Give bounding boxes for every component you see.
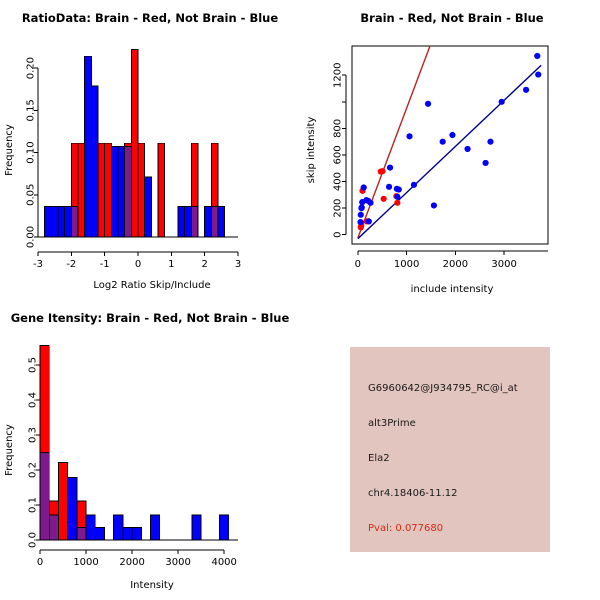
scatter-point-not-brain xyxy=(523,87,529,93)
histogram-bar-overlap xyxy=(71,207,78,237)
scatter-point-not-brain xyxy=(464,146,470,152)
histogram-bar-brain xyxy=(58,462,67,540)
x-axis-tick-label: 2000 xyxy=(119,557,144,568)
gene-intensity-histogram-panel: Gene Itensity: Brain - Red, Not Brain - … xyxy=(0,300,300,600)
histogram-bar-overlap xyxy=(191,207,198,237)
histogram-bar-not-brain xyxy=(218,207,225,237)
ratio-histogram-svg: RatioData: Brain - Red, Not Brain - Blue… xyxy=(0,0,300,300)
scatter-point-not-brain xyxy=(440,139,446,145)
scatter-point-not-brain xyxy=(367,200,373,206)
histogram-bar-brain xyxy=(138,143,145,237)
scatter-point-not-brain xyxy=(482,160,488,166)
histogram-bar-overlap xyxy=(211,207,218,237)
gene-intensity-histogram-xlabel: Intensity xyxy=(130,580,174,591)
y-axis-tick-label: 0 xyxy=(333,232,344,238)
scatter-point-not-brain xyxy=(406,133,412,139)
locus-text: chr4.18406-11.12 xyxy=(368,488,542,499)
x-axis-tick-label: 3000 xyxy=(165,557,190,568)
histogram-bar-brain xyxy=(131,50,138,237)
scatter-point-not-brain xyxy=(387,164,393,170)
y-axis-tick-label: 400 xyxy=(333,172,344,191)
intensity-scatter-panel: Brain - Red, Not Brain - Blue 0200400600… xyxy=(300,0,600,300)
histogram-bar-not-brain xyxy=(58,207,65,237)
y-axis-tick-label: 0.15 xyxy=(26,99,37,121)
gene-intensity-histogram-svg: Gene Itensity: Brain - Red, Not Brain - … xyxy=(0,300,300,600)
histogram-bar-not-brain xyxy=(85,56,92,237)
intensity-scatter-xlabel: include intensity xyxy=(411,284,494,295)
y-axis-tick-label: 0.3 xyxy=(28,427,39,443)
x-axis-tick-label: 0 xyxy=(135,259,141,270)
gene-intensity-histogram-title: Gene Itensity: Brain - Red, Not Brain - … xyxy=(11,311,290,325)
x-axis-tick-label: -1 xyxy=(100,259,110,270)
histogram-bar-not-brain xyxy=(132,527,141,540)
ratio-histogram-panel: RatioData: Brain - Red, Not Brain - Blue… xyxy=(0,0,300,300)
histogram-bar-not-brain xyxy=(111,147,118,237)
scatter-point-not-brain xyxy=(359,204,365,210)
histogram-bar-overlap xyxy=(125,147,132,237)
y-axis-tick-label: 0.2 xyxy=(28,462,39,478)
histogram-bar-overlap xyxy=(40,453,49,541)
y-axis-tick-label: 0.4 xyxy=(28,392,39,408)
scatter-point-brain xyxy=(394,200,400,206)
histogram-bar-not-brain xyxy=(51,207,58,237)
ratio-histogram-ylabel: Frequency xyxy=(4,124,15,176)
y-axis-tick-label: 0.5 xyxy=(28,357,39,373)
intensity-scatter-ylabel: skip intensity xyxy=(306,117,317,184)
scatter-point-not-brain xyxy=(449,132,455,138)
scatter-plot-box xyxy=(352,46,548,244)
histogram-bar-overlap xyxy=(77,527,86,540)
scatter-point-not-brain xyxy=(386,184,392,190)
probe-info-box: G6960642@J934795_RC@i_at alt3Prime Ela2 … xyxy=(350,347,550,552)
histogram-bar-not-brain xyxy=(45,207,52,237)
x-axis-tick-label: -3 xyxy=(33,259,43,270)
histogram-bar-overlap xyxy=(49,515,58,540)
intensity-scatter-plot-area: 020040060080012000100020003000 xyxy=(333,41,549,270)
x-axis-tick-label: -2 xyxy=(66,259,76,270)
histogram-bar-not-brain xyxy=(65,207,72,237)
scatter-point-not-brain xyxy=(487,139,493,145)
scatter-fit-line-not-brain-fit xyxy=(358,65,541,238)
scatter-point-brain xyxy=(379,168,385,174)
scatter-point-not-brain xyxy=(396,186,402,192)
y-axis-tick-label: 1200 xyxy=(333,63,344,88)
histogram-bar-not-brain xyxy=(205,207,212,237)
x-axis-tick-label: 2000 xyxy=(443,259,468,270)
ratio-histogram-plot-area: 0.000.050.100.150.20-3-2-10123 xyxy=(26,50,242,270)
histogram-bar-not-brain xyxy=(151,515,160,540)
probe-id-text: G6960642@J934795_RC@i_at xyxy=(368,383,542,394)
scatter-content xyxy=(357,41,541,239)
y-axis-tick-label: 0.05 xyxy=(26,184,37,206)
histogram-bar-not-brain xyxy=(114,515,123,540)
scatter-point-not-brain xyxy=(366,218,372,224)
x-axis-tick-label: 2 xyxy=(201,259,207,270)
histogram-bar-not-brain xyxy=(220,515,229,540)
histogram-bar-not-brain xyxy=(145,177,152,237)
scatter-point-not-brain xyxy=(534,53,540,59)
gene-intensity-histogram-ylabel: Frequency xyxy=(4,424,15,476)
histogram-bar-not-brain xyxy=(185,207,192,237)
y-axis-tick-label: 600 xyxy=(333,145,344,164)
scatter-point-not-brain xyxy=(499,99,505,105)
event-type-text: alt3Prime xyxy=(368,418,542,429)
histogram-bar-not-brain xyxy=(68,477,77,540)
histogram-bar-not-brain xyxy=(95,527,104,540)
y-axis-tick-label: 800 xyxy=(333,119,344,138)
y-axis-tick-label: 0.0 xyxy=(28,532,39,548)
histogram-bar-not-brain xyxy=(86,515,95,540)
scatter-point-not-brain xyxy=(357,219,363,225)
y-axis-tick-label: 0.10 xyxy=(26,141,37,163)
histogram-bar-brain xyxy=(105,143,112,237)
x-axis-tick-label: 1 xyxy=(168,259,174,270)
gene-symbol-text: Ela2 xyxy=(368,453,542,464)
probe-info-lines: G6960642@J934795_RC@i_at alt3Prime Ela2 … xyxy=(368,383,542,534)
scatter-point-not-brain xyxy=(431,202,437,208)
histogram-bar-brain xyxy=(98,143,105,237)
y-axis-tick-label: 0.00 xyxy=(26,226,37,248)
x-axis-tick-label: 3 xyxy=(235,259,241,270)
x-axis-tick-label: 0 xyxy=(37,557,43,568)
x-axis-tick-label: 3000 xyxy=(491,259,516,270)
histogram-bar-not-brain xyxy=(91,86,98,237)
scatter-point-not-brain xyxy=(361,184,367,190)
histogram-bar-not-brain xyxy=(192,515,201,540)
scatter-point-brain xyxy=(381,196,387,202)
scatter-point-not-brain xyxy=(535,71,541,77)
scatter-fit-line-brain-fit xyxy=(358,41,432,238)
scatter-point-not-brain xyxy=(358,212,364,218)
histogram-bar-not-brain xyxy=(178,207,185,237)
scatter-point-not-brain xyxy=(411,182,417,188)
intensity-scatter-title: Brain - Red, Not Brain - Blue xyxy=(360,11,543,25)
scatter-point-not-brain xyxy=(394,194,400,200)
x-axis-tick-label: 4000 xyxy=(211,557,236,568)
x-axis-tick-label: 1000 xyxy=(394,259,419,270)
histogram-bar-not-brain xyxy=(118,147,125,237)
y-axis-tick-label: 0.20 xyxy=(26,57,37,79)
probe-info-panel: G6960642@J934795_RC@i_at alt3Prime Ela2 … xyxy=(300,300,600,600)
ratio-histogram-title: RatioData: Brain - Red, Not Brain - Blue xyxy=(22,11,279,25)
pvalue-text: Pval: 0.077680 xyxy=(368,523,542,534)
histogram-bar-not-brain xyxy=(123,527,132,540)
gene-intensity-plot-area: 0.00.10.20.30.40.501000200030004000 xyxy=(28,345,239,568)
histogram-bar-brain xyxy=(158,143,165,237)
y-axis-tick-label: 0.1 xyxy=(28,497,39,513)
scatter-point-not-brain xyxy=(425,101,431,107)
ratio-histogram-xlabel: Log2 Ratio Skip/Include xyxy=(93,280,210,291)
intensity-scatter-svg: Brain - Red, Not Brain - Blue 0200400600… xyxy=(300,0,600,300)
histogram-bar-brain xyxy=(78,143,85,237)
x-axis-tick-label: 1000 xyxy=(73,557,98,568)
x-axis-tick-label: 0 xyxy=(355,259,361,270)
y-axis-tick-label: 200 xyxy=(333,199,344,218)
